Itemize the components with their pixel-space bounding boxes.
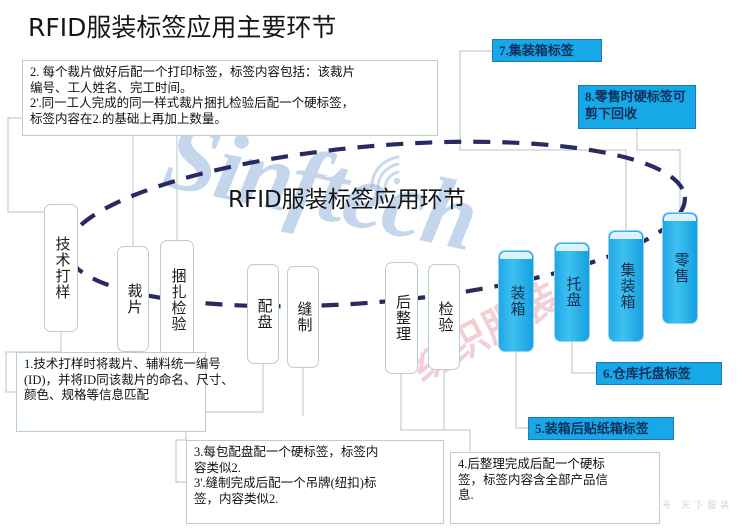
process-step-8[interactable]: 装箱: [498, 250, 534, 352]
process-step-label: 检验: [436, 301, 453, 333]
process-step-9[interactable]: 托盘: [554, 242, 590, 342]
note-1-line-2: (ID)，并将ID同该裁片的命名、尺寸、: [24, 373, 198, 389]
page-title: RFID服装标签应用主要环节: [28, 8, 336, 44]
tag-6-warehouse-pallet-label[interactable]: 6.仓库托盘标签: [596, 362, 722, 385]
note-2: 2. 每个裁片做好后配一个打印标签，标签内容包括：该裁片编号、工人姓名、完工时间…: [22, 60, 438, 136]
note-1: 1.技术打样时将裁片、辅料统一编号(ID)，并将ID同该裁片的命名、尺寸、颜色、…: [16, 352, 206, 432]
note-4-line-2: 签，标签内容含全部产品信: [458, 473, 652, 489]
process-step-6[interactable]: 后整理: [385, 262, 418, 374]
pillar-cap: [610, 232, 642, 239]
process-step-4[interactable]: 配盘: [247, 264, 279, 364]
process-step-11[interactable]: 零售: [662, 212, 698, 324]
process-step-label: 托盘: [564, 276, 581, 308]
process-step-label: 零售: [672, 252, 689, 284]
note-2-line-1: 2. 每个裁片做好后配一个打印标签，标签内容包括：该裁片: [30, 65, 430, 81]
process-step-label: 缝制: [295, 301, 312, 333]
note-1-line-3: 颜色、规格等信息匹配: [24, 388, 198, 404]
process-step-label: 技术打样: [53, 236, 70, 300]
tag-5-carton-sticker-label[interactable]: 5.装箱后贴纸箱标签: [528, 417, 674, 440]
pillar-cap: [556, 244, 588, 251]
process-step-1[interactable]: 技术打样: [44, 204, 78, 332]
process-step-2[interactable]: 裁片: [117, 246, 149, 352]
process-step-5[interactable]: 缝制: [287, 266, 319, 368]
note-4-line-1: 4.后整理完成后配一个硬标: [458, 457, 652, 473]
process-step-label: 配盘: [255, 298, 272, 330]
note-3-line-3: 3'.缝制完成后配一个吊牌(纽扣)标: [194, 476, 436, 492]
ring-label: RFID服装标签应用环节: [228, 180, 466, 214]
note-4-line-3: 息.: [458, 488, 652, 504]
cn-watermark: 纺织服装: [400, 266, 569, 392]
tag-8-retail-hardtag-recycle[interactable]: 8.零售时硬标签可剪下回收: [578, 85, 696, 129]
note-3-line-4: 签，内容类似2.: [194, 492, 436, 508]
note-2-line-2: 编号、工人姓名、完工时间。: [30, 81, 430, 97]
tag-7-container-label[interactable]: 7.集装箱标签: [492, 39, 602, 62]
process-step-3[interactable]: 捆扎检验: [160, 240, 194, 360]
note-2-line-4: 标签内容在2.的基础上再加上数量。: [30, 112, 430, 128]
process-step-label: 裁片: [125, 283, 142, 315]
pillar-cap: [664, 214, 696, 221]
note-3: 3.每包配盘配一个硬标签，标签内容类似2.3'.缝制完成后配一个吊牌(纽扣)标签…: [186, 440, 444, 524]
note-4: 4.后整理完成后配一个硬标签，标签内容含全部产品信息.: [450, 452, 660, 524]
pillar-cap: [500, 252, 532, 259]
note-1-line-1: 1.技术打样时将裁片、辅料统一编号: [24, 357, 198, 373]
note-3-line-2: 容类似2.: [194, 461, 436, 477]
process-step-label: 捆扎检验: [169, 268, 186, 332]
process-step-label: 集装箱: [618, 262, 635, 310]
slide-canvas: Sinftech 纺织服装 公众号 天下服装 RFID服装标签应用主要环节: [0, 0, 750, 528]
process-step-10[interactable]: 集装箱: [608, 230, 644, 342]
note-3-line-1: 3.每包配盘配一个硬标签，标签内: [194, 445, 436, 461]
process-step-7[interactable]: 检验: [428, 264, 460, 370]
note-2-line-3: 2'.同一工人完成的同一样式裁片捆扎检验后配一个硬标签，: [30, 96, 430, 112]
process-step-label: 后整理: [393, 294, 410, 342]
process-step-label: 装箱: [508, 285, 525, 317]
